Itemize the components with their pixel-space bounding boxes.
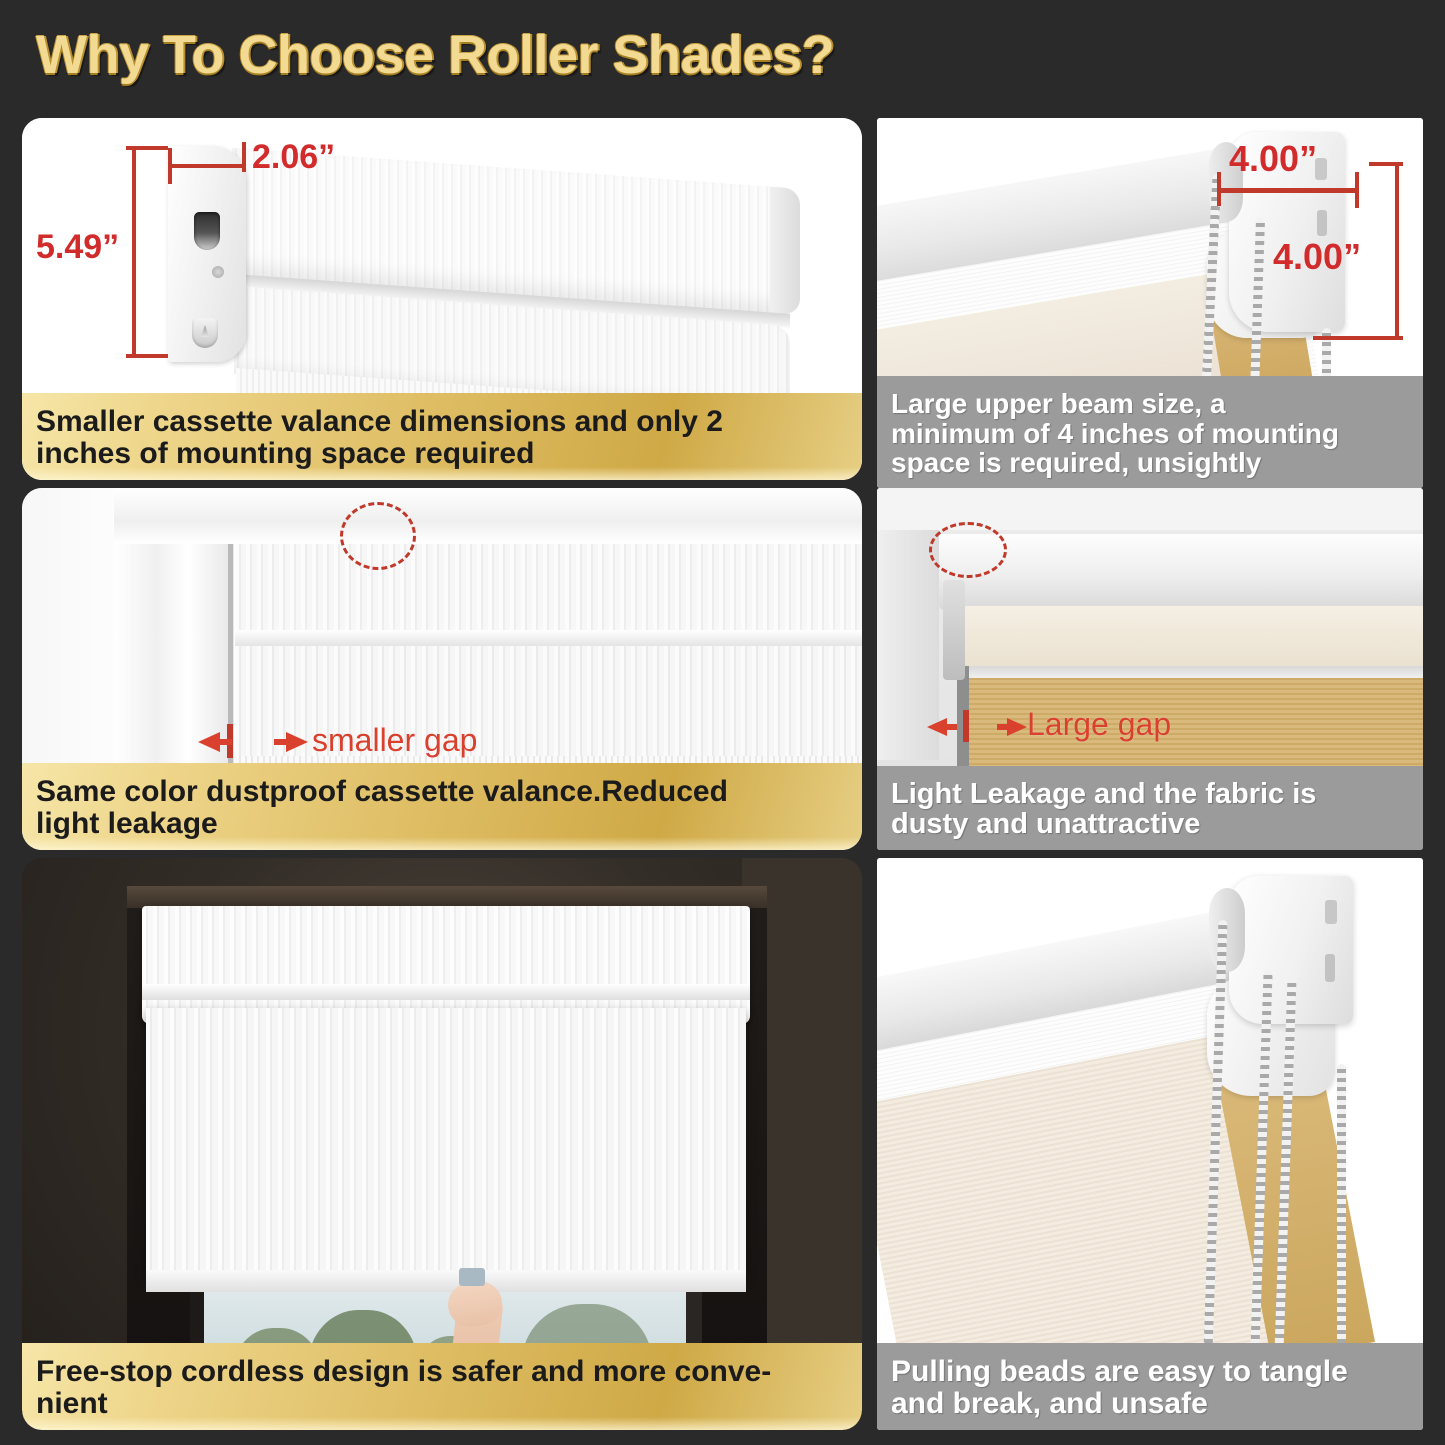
gap-arrows-icon (198, 728, 308, 756)
caption-line: Same color dustproof cassette valance.Re… (36, 776, 848, 808)
caption-line: inches of mounting space required (36, 438, 848, 470)
panel-large-beam[interactable]: 4.00” 4.00” Large upper beam size, a min… (877, 118, 1423, 488)
dimension-height-label: 5.49” (36, 228, 119, 267)
panel-2-caption: Large upper beam size, a minimum of 4 in… (877, 376, 1423, 488)
pull-tab-icon (459, 1268, 485, 1286)
panel-cordless-design[interactable]: Free-stop cordless design is safer and m… (22, 858, 862, 1430)
bracket-slot-icon (194, 212, 220, 250)
knob-icon (192, 318, 218, 348)
highlight-circle-icon (929, 522, 1007, 578)
caption-line: and break, and unsafe (891, 1388, 1409, 1420)
dimension-width-label: 2.06” (252, 138, 335, 177)
panel-5-caption: Free-stop cordless design is safer and m… (22, 1343, 862, 1430)
page-title: Why To Choose Roller Shades? (36, 24, 834, 86)
caption-line: dusty and unattractive (891, 809, 1409, 840)
panel-3-caption: Same color dustproof cassette valance.Re… (22, 763, 862, 850)
caption-line: light leakage (36, 808, 848, 840)
infographic-page: Why To Choose Roller Shades? 2.06” (0, 0, 1445, 1445)
caption-line: space is required, unsightly (891, 448, 1409, 478)
panel-pulling-beads[interactable]: Pulling beads are easy to tangle and bre… (877, 858, 1423, 1430)
screw-icon (212, 266, 224, 278)
panel-1-caption: Smaller cassette valance dimensions and … (22, 393, 862, 480)
caption-line: Light Leakage and the fabric is (891, 779, 1409, 810)
bead-chain-icon (1337, 1064, 1346, 1354)
gap-arrows-icon (927, 714, 1027, 740)
highlight-circle-icon (340, 502, 416, 570)
panel-6-caption: Pulling beads are easy to tangle and bre… (877, 1343, 1423, 1430)
caption-line: Free-stop cordless design is safer and m… (36, 1356, 848, 1388)
gap-annotation-label: Large gap (1027, 706, 1171, 743)
panel-dustproof-valance[interactable]: smaller gap Same color dustproof cassett… (22, 488, 862, 850)
panel-grid: 2.06” 5.49” Smaller cassette valance dim… (0, 108, 1445, 1445)
panel-4-caption: Light Leakage and the fabric is dusty an… (877, 766, 1423, 850)
panel-light-leakage[interactable]: Large gap Light Leakage and the fabric i… (877, 488, 1423, 850)
caption-line: minimum of 4 inches of mounting (891, 419, 1409, 449)
bracket-icon (943, 580, 965, 680)
cassette-valance (142, 906, 750, 1024)
caption-line: Large upper beam size, a (891, 389, 1409, 419)
caption-line: Pulling beads are easy to tangle (891, 1356, 1409, 1388)
caption-line: nient (36, 1388, 848, 1420)
roller-shade-fabric (146, 1008, 746, 1276)
dimension-width-label: 4.00” (1229, 138, 1317, 180)
panel-smaller-cassette[interactable]: 2.06” 5.49” Smaller cassette valance dim… (22, 118, 862, 480)
gap-annotation-label: smaller gap (312, 722, 477, 759)
dimension-height-label: 4.00” (1273, 236, 1361, 278)
caption-line: Smaller cassette valance dimensions and … (36, 406, 848, 438)
